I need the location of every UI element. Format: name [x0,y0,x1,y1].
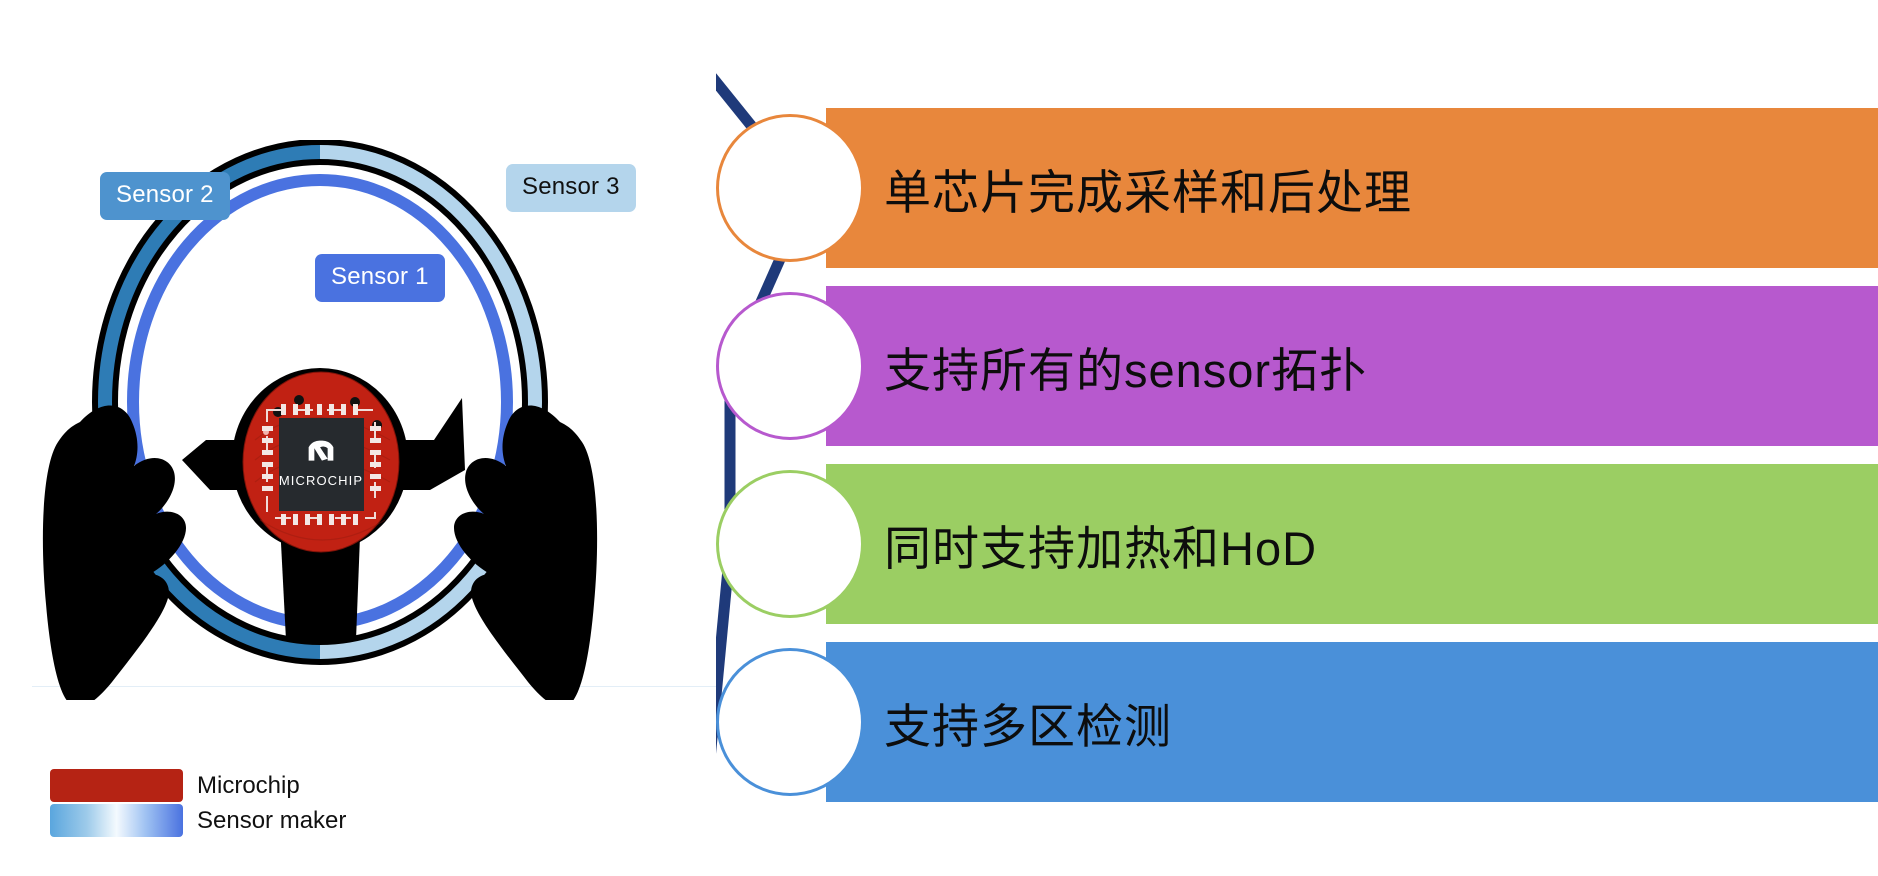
steering-wheel-graphic: MICROCHIP [10,140,720,700]
feature-bullet-2[interactable] [716,292,864,440]
sensor-tag-sensor1[interactable]: Sensor 1 [315,254,445,302]
steering-wheel-illustration: MICROCHIP Sensor 2 Sensor 3 Sensor 1 Mic… [0,0,730,876]
chip-brand-text: MICROCHIP [279,473,363,488]
feature-multizone[interactable]: 支持多区检测 [716,642,1878,802]
feature-bullet-4[interactable] [716,648,864,796]
slide-canvas: MICROCHIP Sensor 2 Sensor 3 Sensor 1 Mic… [0,0,1878,876]
legend-item-microchip: Microchip [50,768,346,803]
pcb-via [294,395,304,405]
legend-label-sensor-maker: Sensor maker [197,809,346,833]
feature-label-3: 同时支持加热和HoD [884,464,1317,624]
feature-label-4: 支持多区检测 [884,642,1172,802]
feature-label-2: 支持所有的sensor拓扑 [884,286,1367,446]
sensor-tag-sensor2[interactable]: Sensor 2 [100,172,230,220]
feature-label-1: 单芯片完成采样和后处理 [884,108,1412,268]
feature-heating-hod[interactable]: 同时支持加热和HoD [716,464,1878,624]
legend-item-sensor-maker: Sensor maker [50,803,346,838]
sensor-tag-sensor3[interactable]: Sensor 3 [506,164,636,212]
chip-body [279,418,364,511]
legend-swatch-sensor-maker [50,804,183,837]
right-hand [454,405,597,700]
feature-bullet-1[interactable] [716,114,864,262]
feature-single-chip[interactable]: 单芯片完成采样和后处理 [716,108,1878,268]
microchip-logo-icon [309,441,334,461]
feature-bars: 单芯片完成采样和后处理 支持所有的sensor拓扑 同时支持加热和HoD 支持多… [716,0,1878,876]
feature-sensor-topology[interactable]: 支持所有的sensor拓扑 [716,286,1878,446]
legend: Microchip Sensor maker [50,768,346,838]
legend-swatch-microchip [50,769,183,802]
feature-bullet-3[interactable] [716,470,864,618]
left-hand [43,405,186,700]
legend-label-microchip: Microchip [197,774,300,798]
